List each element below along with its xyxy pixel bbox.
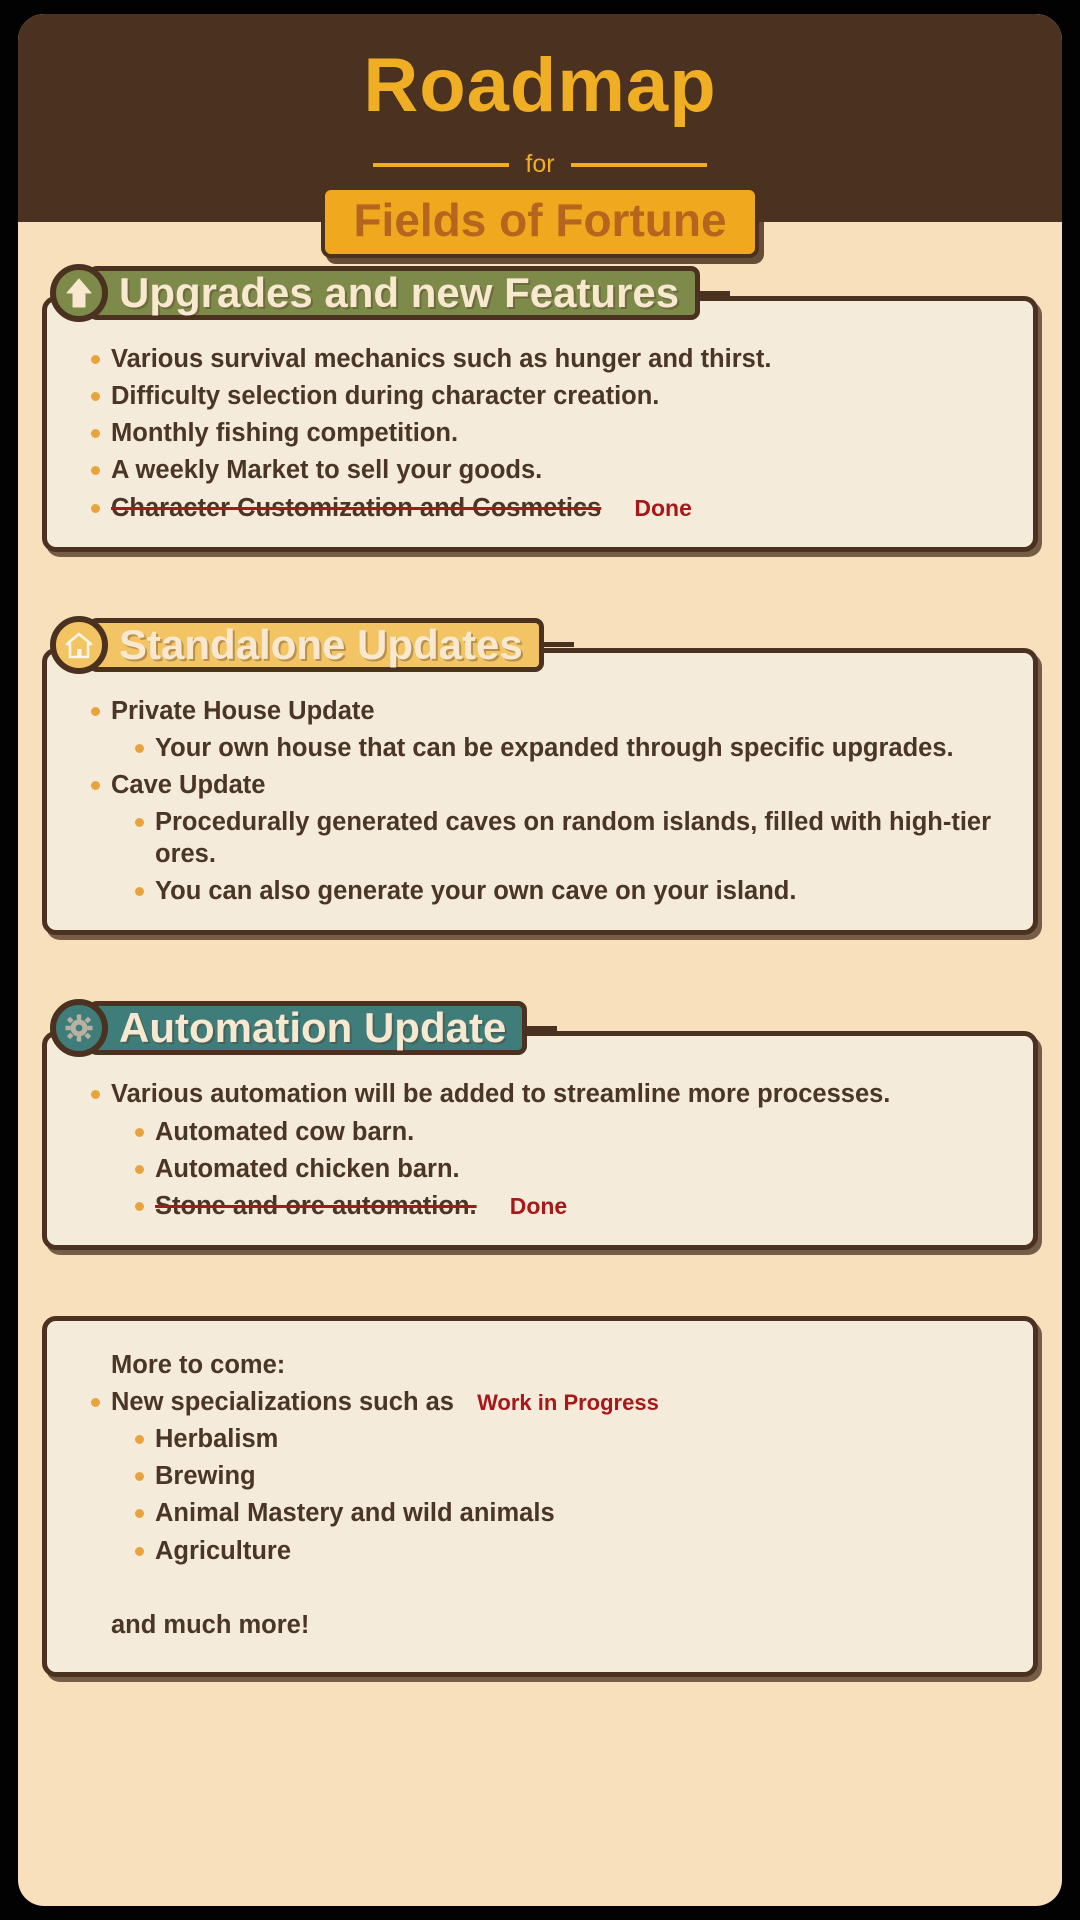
poster-body: Upgrades and new Features Various surviv…	[18, 222, 1062, 1677]
list-item: Monthly fishing competition.	[81, 417, 1011, 449]
status-badge: Done	[634, 495, 692, 521]
section-connector-standalone	[544, 642, 574, 647]
item-text: Brewing	[155, 1462, 256, 1490]
item-text: Various survival mechanics such as hunge…	[111, 345, 771, 373]
list-item: Agriculture	[125, 1535, 1011, 1567]
item-text: Procedurally generated caves on random i…	[155, 808, 991, 868]
item-text: Animal Mastery and wild animals	[155, 1499, 555, 1527]
item-text: Monthly fishing competition.	[111, 419, 458, 447]
card-more-to-come: More to come: New specializations such a…	[42, 1316, 1038, 1677]
item-text: New specializations such as	[111, 1388, 454, 1416]
section-connector-upgrades	[700, 291, 730, 296]
game-name-chip: Fields of Fortune	[321, 186, 758, 258]
for-divider-row: for	[18, 150, 1062, 179]
item-text: Your own house that can be expanded thro…	[155, 734, 954, 762]
item-text: Herbalism	[155, 1425, 278, 1453]
section-banner-standalone: Standalone Updates	[88, 618, 544, 672]
gap-before-more-card	[42, 1260, 1038, 1316]
section-title-standalone: Standalone Updates	[119, 624, 523, 666]
section-upgrades: Upgrades and new Features Various surviv…	[42, 262, 1038, 552]
page-title: Roadmap	[18, 14, 1062, 124]
sublist-automation: Automated cow barn. Automated chicken ba…	[125, 1116, 1011, 1222]
item-text: Difficulty selection during character cr…	[111, 382, 659, 410]
section-header-upgrades: Upgrades and new Features	[50, 262, 1038, 324]
section-title-automation: Automation Update	[119, 1007, 506, 1049]
closing-text: and much more!	[111, 1611, 309, 1639]
list-item: Various automation will be added to stre…	[81, 1078, 1011, 1110]
item-text-completed: Stone and ore automation.	[155, 1192, 477, 1220]
item-text-completed: Character Customization and Cosmetics	[111, 494, 601, 522]
section-connector-automation	[527, 1026, 557, 1031]
game-name-chip-wrap: Fields of Fortune	[18, 186, 1062, 258]
card-upgrades: Various survival mechanics such as hunge…	[42, 296, 1038, 552]
sublist-specializations: Herbalism Brewing Animal Mastery and wil…	[125, 1423, 1011, 1567]
item-text: You can also generate your own cave on y…	[155, 877, 796, 905]
sublist-private-house: Your own house that can be expanded thro…	[125, 732, 1011, 764]
section-automation: Automation Update Various automation wil…	[42, 997, 1038, 1250]
item-text: Various automation will be added to stre…	[111, 1080, 890, 1108]
item-text: Private House Update	[111, 697, 375, 725]
list-item: Private House Update	[81, 695, 1011, 727]
list-item: Automated chicken barn.	[125, 1153, 1011, 1185]
status-badge: Done	[510, 1193, 568, 1219]
section-banner-upgrades: Upgrades and new Features	[88, 266, 700, 320]
list-item: Difficulty selection during character cr…	[81, 380, 1011, 412]
section-header-automation: Automation Update	[50, 997, 1038, 1059]
up-arrow-icon	[50, 264, 108, 322]
list-item: Character Customization and Cosmetics Do…	[81, 492, 1011, 524]
list-item: New specializations such as Work in Prog…	[81, 1386, 1011, 1418]
list-item: Your own house that can be expanded thro…	[125, 732, 1011, 764]
item-text: Cave Update	[111, 771, 265, 799]
list-item: You can also generate your own cave on y…	[125, 875, 1011, 907]
closing-line: and much more!	[81, 1609, 1011, 1641]
gap-after-standalone	[42, 945, 1038, 997]
lead-text: More to come:	[111, 1351, 285, 1379]
section-header-standalone: Standalone Updates	[50, 614, 1038, 676]
list-standalone: Private House Update Your own house that…	[81, 695, 1011, 908]
list-item: Brewing	[125, 1460, 1011, 1492]
list-item: Automated cow barn.	[125, 1116, 1011, 1148]
item-text: A weekly Market to sell your goods.	[111, 456, 542, 484]
gap-after-upgrades	[42, 562, 1038, 614]
list-item: A weekly Market to sell your goods.	[81, 454, 1011, 486]
sublist-cave: Procedurally generated caves on random i…	[125, 806, 1011, 907]
list-automation: Various automation will be added to stre…	[81, 1078, 1011, 1222]
for-label: for	[525, 150, 554, 179]
list-more-to-come: More to come: New specializations such a…	[81, 1349, 1011, 1641]
item-text: Automated chicken barn.	[155, 1155, 460, 1183]
item-text: Automated cow barn.	[155, 1118, 414, 1146]
card-automation: Various automation will be added to stre…	[42, 1031, 1038, 1250]
gear-icon	[50, 999, 108, 1057]
status-badge: Work in Progress	[477, 1390, 659, 1415]
more-to-come-lead: More to come:	[81, 1349, 1011, 1381]
divider-rule-left	[373, 163, 509, 167]
list-item: Procedurally generated caves on random i…	[125, 806, 1011, 870]
card-standalone: Private House Update Your own house that…	[42, 648, 1038, 936]
list-item: Herbalism	[125, 1423, 1011, 1455]
roadmap-poster: Roadmap for Fields of Fortune Upgrades a…	[18, 14, 1062, 1906]
list-upgrades: Various survival mechanics such as hunge…	[81, 343, 1011, 524]
house-icon	[50, 616, 108, 674]
section-standalone: Standalone Updates Private House Update …	[42, 614, 1038, 936]
list-item: Stone and ore automation. Done	[125, 1190, 1011, 1222]
divider-rule-right	[571, 163, 707, 167]
list-item: Various survival mechanics such as hunge…	[81, 343, 1011, 375]
section-title-upgrades: Upgrades and new Features	[119, 272, 679, 314]
list-item: Cave Update	[81, 769, 1011, 801]
item-text: Agriculture	[155, 1537, 291, 1565]
list-item: Animal Mastery and wild animals	[125, 1497, 1011, 1529]
section-banner-automation: Automation Update	[88, 1001, 527, 1055]
